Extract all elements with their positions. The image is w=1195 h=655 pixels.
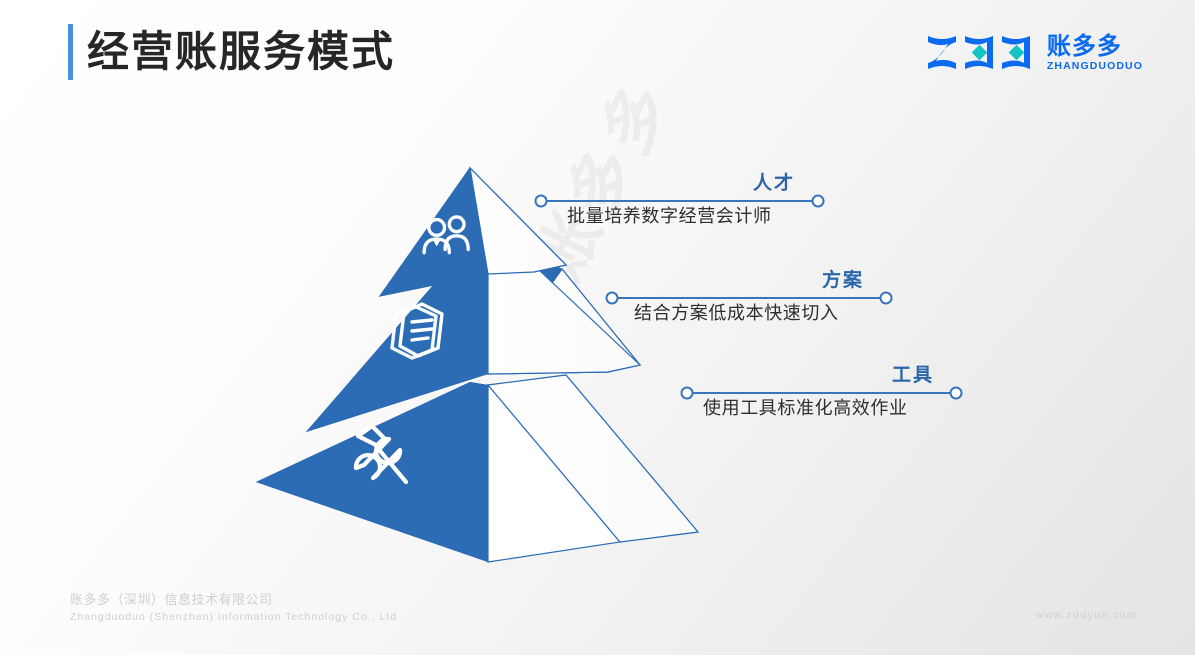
callout-connector-line bbox=[681, 352, 981, 382]
page-title: 经营账服务模式 bbox=[68, 24, 395, 80]
pyramid-level-bottom[interactable] bbox=[256, 375, 698, 562]
title-accent-bar bbox=[68, 24, 73, 80]
zdd-logo-mark-icon bbox=[925, 30, 1037, 77]
footer-company-cn: 账多多（深圳）信息技术有限公司 bbox=[70, 591, 397, 609]
footer-website: www.zddyun.com bbox=[1036, 609, 1137, 621]
page-title-text: 经营账服务模式 bbox=[87, 24, 395, 80]
footer: 账多多（深圳）信息技术有限公司 Zhangduoduo (Shenzhen) I… bbox=[70, 591, 397, 625]
callout-caption: 方案 bbox=[822, 265, 864, 292]
callout-caption: 人才 bbox=[753, 168, 795, 195]
callout-description: 使用工具标准化高效作业 bbox=[703, 394, 908, 420]
slide-header: 经营账服务模式 账多多 ZHANGDUODUO bbox=[0, 0, 1195, 110]
brand-name-cn: 账多多 bbox=[1047, 34, 1143, 60]
brand-name-en: ZHANGDUODUO bbox=[1047, 60, 1143, 73]
callout-description: 批量培养数字经营会计师 bbox=[567, 202, 772, 228]
brand-logo: 账多多 ZHANGDUODUO bbox=[925, 30, 1143, 77]
callout-description: 结合方案低成本快速切入 bbox=[634, 299, 839, 325]
callout-caption: 工具 bbox=[892, 360, 934, 387]
footer-company-en: Zhangduoduo (Shenzhen) Information Techn… bbox=[70, 609, 397, 625]
